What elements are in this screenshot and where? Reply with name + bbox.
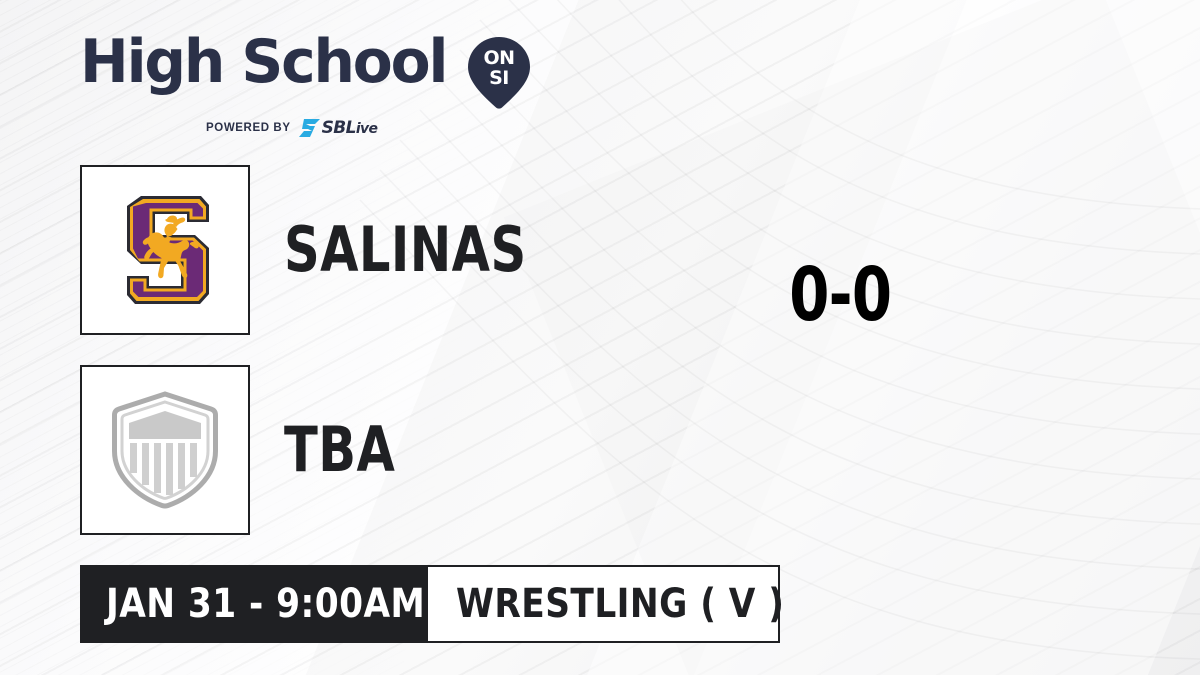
game-sport-text: WRESTLING ( V ) bbox=[456, 584, 784, 624]
salinas-s-bronco-logo-icon bbox=[105, 186, 225, 314]
pin-line-1-text: ON bbox=[483, 47, 514, 69]
card-content: High School ON SI POWERED BY SBLive bbox=[0, 0, 1200, 675]
team-name-home: SALINAS bbox=[284, 219, 527, 281]
game-sport-block: WRESTLING ( V ) bbox=[428, 565, 780, 643]
team-logo-box-home bbox=[80, 165, 250, 335]
sblive-upper-text: SBL bbox=[322, 118, 356, 138]
team-logo-box-away bbox=[80, 365, 250, 535]
team-row-away: TBA bbox=[80, 365, 423, 535]
powered-by-label: POWERED BY bbox=[206, 122, 291, 134]
placeholder-shield-icon bbox=[110, 391, 220, 509]
sblive-wordmark: SBLive bbox=[322, 118, 378, 138]
sblive-lower-text: ive bbox=[356, 121, 378, 137]
game-info-bar: JAN 31 - 9:00AM WRESTLING ( V ) bbox=[80, 565, 780, 643]
score-value: 0-0 bbox=[789, 258, 891, 332]
sblive-s-icon bbox=[299, 119, 320, 137]
powered-by-row: POWERED BY SBLive bbox=[80, 118, 510, 138]
pin-line-2-text: SI bbox=[489, 67, 509, 89]
matchup-graphic-card: High School ON SI POWERED BY SBLive bbox=[0, 0, 1200, 675]
team-name-away: TBA bbox=[284, 419, 395, 481]
on-si-pin-icon: ON SI bbox=[468, 37, 530, 114]
brand-logo: High School ON SI POWERED BY SBLive bbox=[80, 34, 510, 138]
game-datetime-block: JAN 31 - 9:00AM bbox=[80, 565, 428, 643]
sblive-logo: SBLive bbox=[299, 118, 378, 138]
team-row-home: SALINAS bbox=[80, 165, 587, 335]
game-datetime-text: JAN 31 - 9:00AM bbox=[106, 584, 425, 624]
brand-wordmark: High School bbox=[80, 34, 446, 92]
